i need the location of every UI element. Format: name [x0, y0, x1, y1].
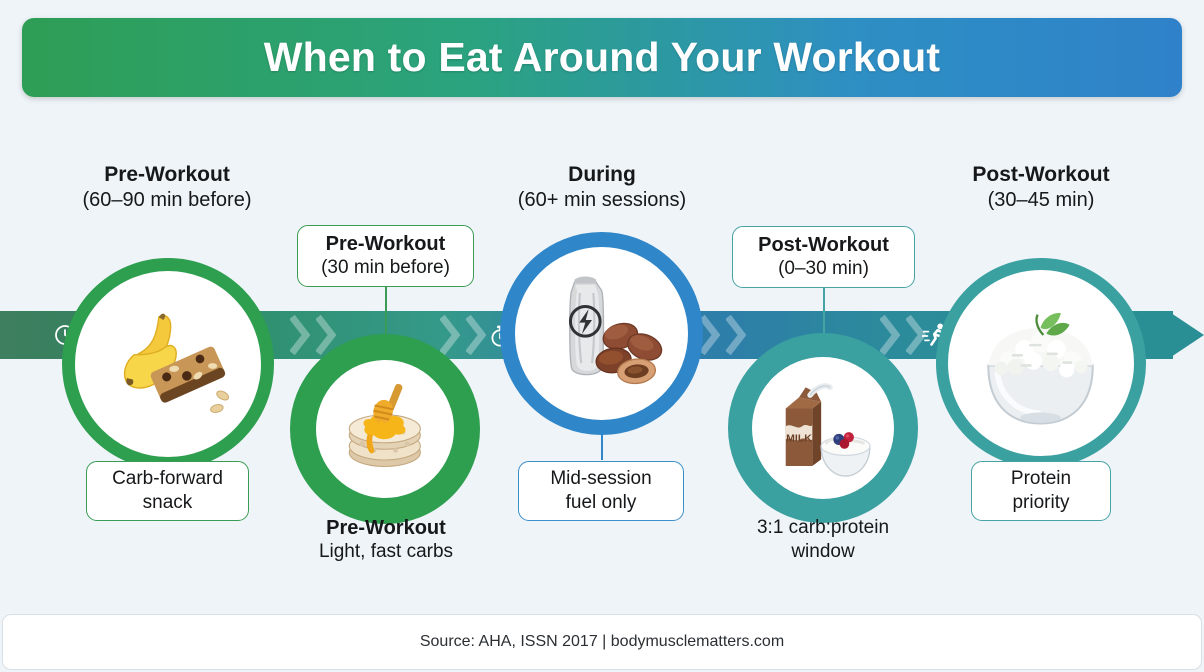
- connector-line: [601, 432, 603, 460]
- chevron-icon: [726, 315, 746, 355]
- stage-caption-pre-workout-60-90: Carb-forward snack: [86, 461, 249, 521]
- stage-title-during: During (60+ min sessions): [457, 162, 747, 213]
- stage-title-pre-workout-30: Pre-Workout (30 min before): [297, 225, 474, 287]
- stage-title-post-workout-0-30: Post-Workout (0–30 min): [732, 226, 915, 288]
- rice-cakes-with-honey-image: [331, 375, 439, 483]
- timeline-arrow-tip: [1168, 311, 1204, 359]
- stage-circle-pre-workout-60-90[interactable]: [62, 258, 274, 470]
- stage-circle-pre-workout-30[interactable]: [290, 334, 480, 524]
- stage-caption-post-workout-0-30: 3:1 carb:protein window: [713, 516, 933, 564]
- banana-and-granola-bar-image: [95, 291, 240, 436]
- chevron-icon: [466, 315, 486, 355]
- stage-circle-post-workout-30-45[interactable]: [936, 258, 1146, 468]
- stage-title-post-workout-30-45: Post-Workout (30–45 min): [896, 162, 1186, 213]
- stage-caption-during: Mid-session fuel only: [518, 461, 684, 521]
- infographic-canvas: When to Eat Around Your Workout: [0, 0, 1204, 672]
- source-text: Source: AHA, ISSN 2017 | bodymusclematte…: [420, 633, 784, 651]
- chevron-icon: [880, 315, 900, 355]
- milk-carton-label: MILK: [786, 432, 812, 444]
- chocolate-milk-and-yogurt-image: MILK: [768, 373, 879, 484]
- stage-circle-during[interactable]: [500, 232, 703, 435]
- chevron-icon: [290, 315, 310, 355]
- footer-bar: Source: AHA, ISSN 2017 | bodymusclematte…: [2, 614, 1202, 670]
- page-title: When to Eat Around Your Workout: [264, 34, 941, 81]
- chevron-icon: [440, 315, 460, 355]
- cottage-cheese-bowl-image: [968, 290, 1113, 435]
- stage-caption-pre-workout-30: Pre-Workout Light, fast carbs: [276, 516, 496, 564]
- header-banner: When to Eat Around Your Workout: [22, 18, 1182, 97]
- stage-circle-post-workout-0-30[interactable]: MILK: [728, 333, 918, 523]
- chevron-icon: [700, 315, 720, 355]
- stage-title-pre-workout-60-90: Pre-Workout (60–90 min before): [22, 162, 312, 213]
- energy-gel-and-dates-image: [534, 266, 669, 401]
- stage-caption-post-workout-30-45: Protein priority: [971, 461, 1111, 521]
